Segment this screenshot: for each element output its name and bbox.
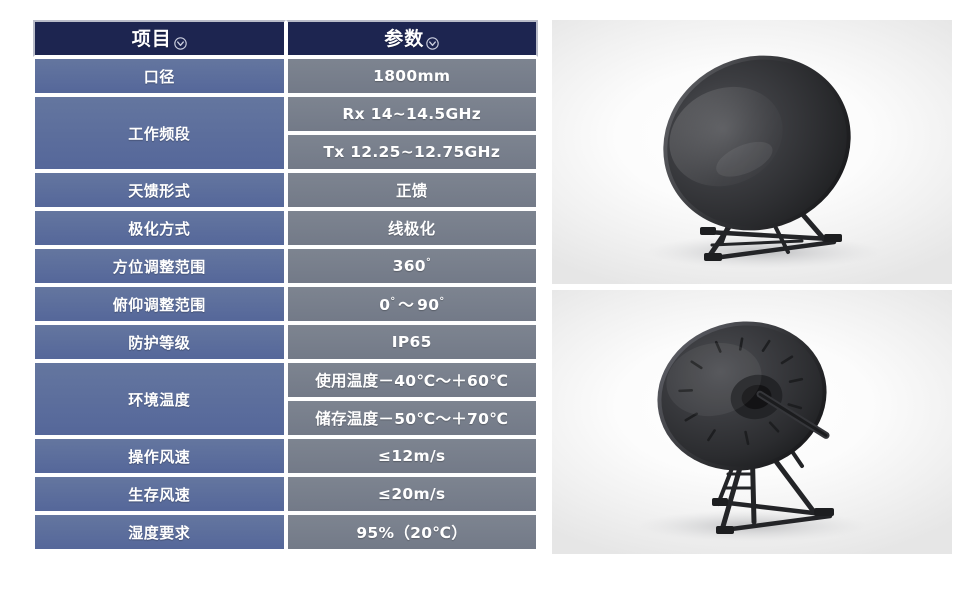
table-row: 生存风速 ≤20m/s bbox=[33, 475, 538, 513]
table-row: 防护等级 IP65 bbox=[33, 323, 538, 361]
table-body: 口径 1800mm 工作频段 Rx 14~14.5GHz Tx 12.25~12… bbox=[33, 57, 538, 551]
row-value-aperture: 1800mm bbox=[286, 57, 539, 95]
row-label-polarization: 极化方式 bbox=[33, 209, 286, 247]
table-row: 工作频段 Rx 14~14.5GHz bbox=[33, 95, 538, 133]
row-label-operating-wind-speed: 操作风速 bbox=[33, 437, 286, 475]
product-photo-column bbox=[552, 20, 952, 554]
table-row: 方位调整范围 360° bbox=[33, 247, 538, 285]
row-label-humidity-requirement: 湿度要求 bbox=[33, 513, 286, 551]
table-header-row: 项目 参数 bbox=[33, 20, 538, 57]
row-value-feed-type: 正馈 bbox=[286, 171, 539, 209]
row-value-frequency-rx: Rx 14~14.5GHz bbox=[286, 95, 539, 133]
product-photo-dish-rear-view bbox=[552, 20, 952, 284]
table-row: 环境温度 使用温度－40℃～＋60℃ bbox=[33, 361, 538, 399]
elevation-max-degree-symbol: ° bbox=[439, 296, 444, 307]
row-label-ambient-temperature: 环境温度 bbox=[33, 361, 286, 437]
table-header: 项目 参数 bbox=[33, 20, 538, 57]
elevation-min: 0 bbox=[379, 296, 390, 314]
row-label-survival-wind-speed: 生存风速 bbox=[33, 475, 286, 513]
row-value-frequency-tx: Tx 12.25~12.75GHz bbox=[286, 133, 539, 171]
row-value-operating-wind-speed: ≤12m/s bbox=[286, 437, 539, 475]
table-row: 口径 1800mm bbox=[33, 57, 538, 95]
row-value-polarization: 线极化 bbox=[286, 209, 539, 247]
column-header-parameter-label: 参数 bbox=[384, 30, 424, 49]
chevron-down-circle-icon[interactable] bbox=[174, 35, 187, 48]
azimuth-number: 360 bbox=[393, 257, 426, 275]
elevation-range-tilde: ～ bbox=[395, 296, 417, 314]
table-row: 极化方式 线极化 bbox=[33, 209, 538, 247]
row-value-azimuth-range: 360° bbox=[286, 247, 539, 285]
row-value-survival-wind-speed: ≤20m/s bbox=[286, 475, 539, 513]
azimuth-degree-symbol: ° bbox=[426, 257, 431, 268]
row-value-elevation-range: 0°～90° bbox=[286, 285, 539, 323]
row-label-frequency-band: 工作频段 bbox=[33, 95, 286, 171]
row-label-elevation-range: 俯仰调整范围 bbox=[33, 285, 286, 323]
row-label-feed-type: 天馈形式 bbox=[33, 171, 286, 209]
table-row: 俯仰调整范围 0°～90° bbox=[33, 285, 538, 323]
table-row: 湿度要求 95%（20℃） bbox=[33, 513, 538, 551]
column-header-item[interactable]: 项目 bbox=[33, 20, 286, 57]
specification-table: 项目 参数 bbox=[33, 20, 538, 551]
row-label-aperture: 口径 bbox=[33, 57, 286, 95]
row-label-azimuth-range: 方位调整范围 bbox=[33, 247, 286, 285]
spec-sheet-page: 项目 参数 bbox=[0, 0, 975, 590]
column-header-item-label: 项目 bbox=[132, 30, 172, 49]
elevation-max: 90 bbox=[417, 296, 439, 314]
row-value-humidity-requirement: 95%（20℃） bbox=[286, 513, 539, 551]
column-header-parameter[interactable]: 参数 bbox=[286, 20, 539, 57]
row-value-ingress-protection: IP65 bbox=[286, 323, 539, 361]
product-photo-dish-angled-view bbox=[552, 290, 952, 554]
chevron-down-circle-icon[interactable] bbox=[426, 35, 439, 48]
table-row: 操作风速 ≤12m/s bbox=[33, 437, 538, 475]
row-label-ingress-protection: 防护等级 bbox=[33, 323, 286, 361]
row-value-storage-temperature: 储存温度－50℃～＋70℃ bbox=[286, 399, 539, 437]
row-value-operating-temperature: 使用温度－40℃～＋60℃ bbox=[286, 361, 539, 399]
table-row: 天馈形式 正馈 bbox=[33, 171, 538, 209]
